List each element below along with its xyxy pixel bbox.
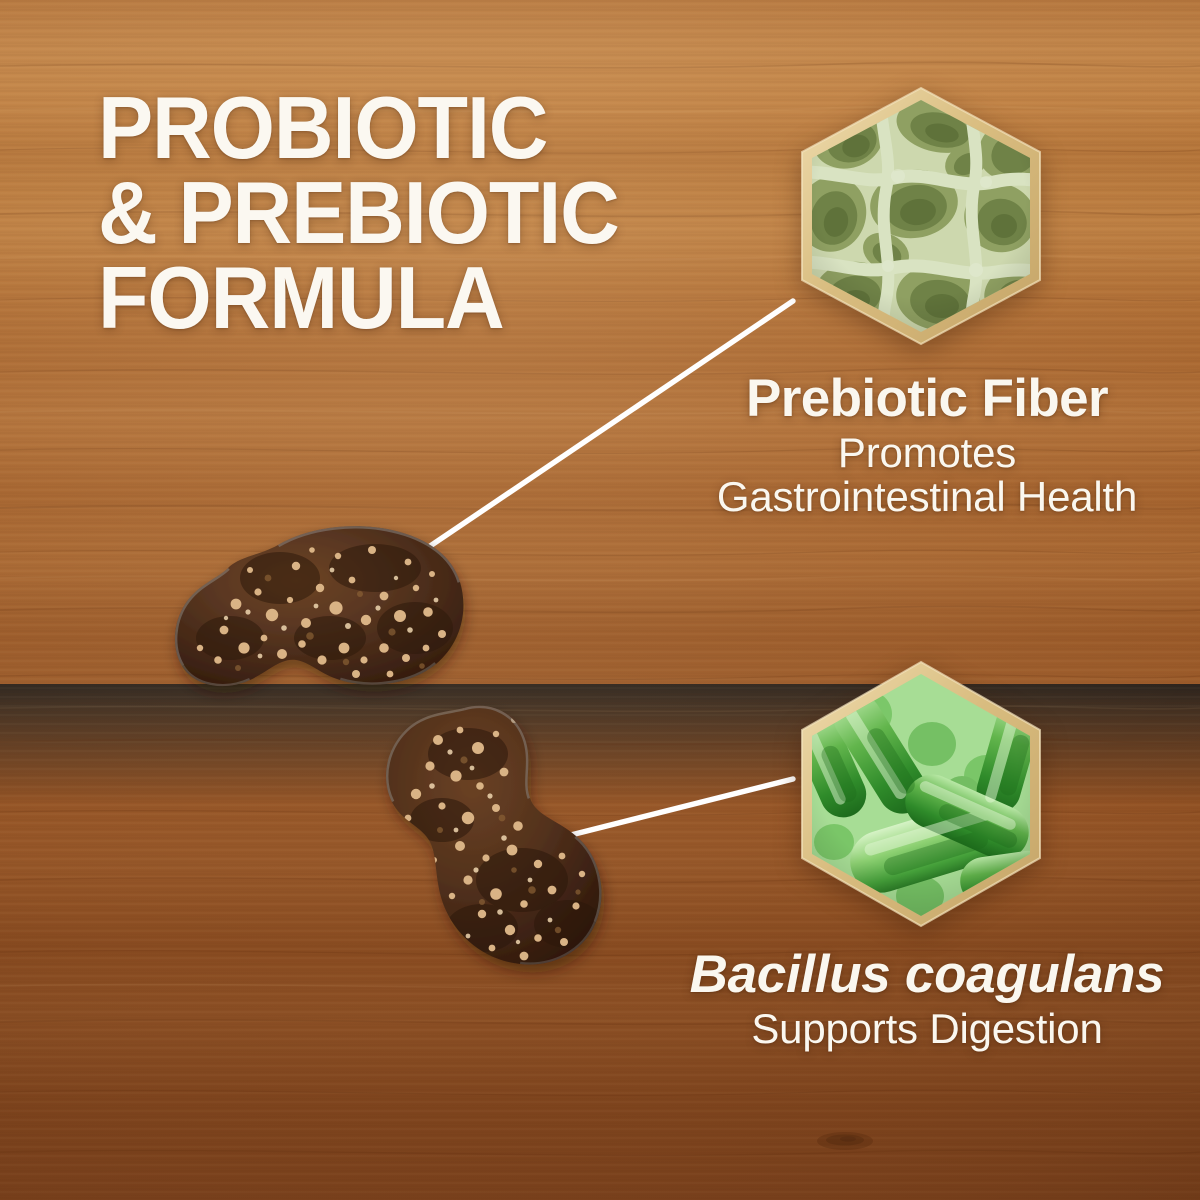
product-infographic: PROBIOTIC & PREBIOTIC FORMULA	[0, 0, 1200, 1200]
bacillus-coagulans-callout-text: Bacillus coagulans Supports Digestion	[672, 948, 1182, 1051]
bacillus-coagulans-subtitle-line-1: Supports Digestion	[672, 1007, 1182, 1052]
prebiotic-fiber-title: Prebiotic Fiber	[672, 372, 1182, 427]
prebiotic-fiber-subtitle: Promotes Gastrointestinal Health	[672, 431, 1182, 520]
dog-treat-lower	[372, 690, 642, 975]
bacillus-coagulans-badge[interactable]	[790, 658, 1052, 930]
prebiotic-fiber-callout-text: Prebiotic Fiber Promotes Gastrointestina…	[672, 372, 1182, 520]
bacillus-coagulans-subtitle: Supports Digestion	[672, 1007, 1182, 1052]
page-title: PROBIOTIC & PREBIOTIC FORMULA	[98, 86, 718, 341]
headline-line-1: PROBIOTIC	[98, 86, 718, 171]
prebiotic-fiber-subtitle-line-1: Promotes	[672, 431, 1182, 476]
bacillus-coagulans-title-line-2: coagulans	[905, 945, 1164, 1004]
prebiotic-fiber-badge[interactable]	[790, 86, 1052, 346]
prebiotic-fiber-title-line-1: Prebiotic	[746, 369, 967, 428]
prebiotic-fiber-subtitle-line-2: Gastrointestinal Health	[672, 475, 1182, 520]
bacillus-coagulans-title-line-1: Bacillus	[690, 945, 891, 1004]
bacillus-coagulans-title: Bacillus coagulans	[672, 948, 1182, 1003]
headline-line-2: & PREBIOTIC	[98, 171, 718, 256]
headline-line-3: FORMULA	[98, 256, 718, 341]
prebiotic-fiber-title-line-2: Fiber	[981, 369, 1108, 428]
